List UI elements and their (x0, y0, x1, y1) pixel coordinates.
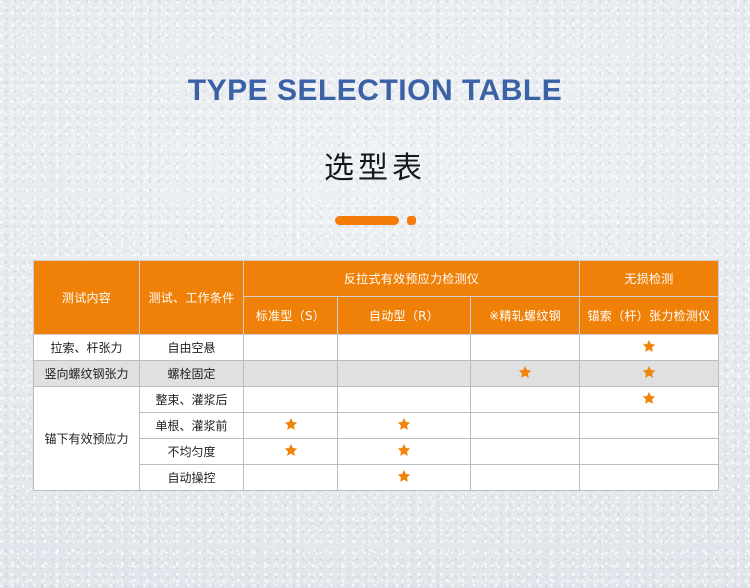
star-icon (397, 417, 411, 431)
cell-test-condition: 整束、灌浆后 (140, 387, 244, 413)
type-selection-table: 测试内容 测试、工作条件 反拉式有效预应力检测仪 无损检测 标准型（S） 自动型… (33, 260, 719, 491)
table-header: 测试内容 测试、工作条件 反拉式有效预应力检测仪 无损检测 标准型（S） 自动型… (34, 261, 719, 335)
cell-test-condition: 不均匀度 (140, 439, 244, 465)
star-icon (642, 391, 656, 405)
cell-supported (580, 361, 719, 387)
star-icon (397, 469, 411, 483)
cell-empty (471, 465, 580, 491)
th-sub-rebar: ※精轧螺纹钢 (471, 297, 580, 335)
cell-test-condition: 自由空悬 (140, 335, 244, 361)
star-icon (642, 339, 656, 353)
cell-empty (338, 335, 471, 361)
table-row: 竖向螺纹钢张力螺栓固定 (34, 361, 719, 387)
cell-empty (580, 413, 719, 439)
cell-empty (244, 335, 338, 361)
th-sub-standard: 标准型（S） (244, 297, 338, 335)
cell-test-condition: 自动操控 (140, 465, 244, 491)
star-icon (397, 443, 411, 457)
star-icon (518, 365, 532, 379)
cell-empty (471, 335, 580, 361)
star-icon (284, 443, 298, 457)
th-group-pullback-instrument: 反拉式有效预应力检测仪 (244, 261, 580, 297)
th-sub-automatic: 自动型（R） (338, 297, 471, 335)
table-body: 拉索、杆张力自由空悬竖向螺纹钢张力螺栓固定锚下有效预应力整束、灌浆后单根、灌浆前… (34, 335, 719, 491)
cell-empty (471, 413, 580, 439)
cell-empty (244, 465, 338, 491)
cell-supported (338, 439, 471, 465)
cell-test-content: 锚下有效预应力 (34, 387, 140, 491)
cell-empty (338, 361, 471, 387)
type-selection-table-wrapper: 测试内容 测试、工作条件 反拉式有效预应力检测仪 无损检测 标准型（S） 自动型… (33, 260, 718, 491)
cell-empty (244, 387, 338, 413)
table-row: 锚下有效预应力整束、灌浆后 (34, 387, 719, 413)
cell-empty (244, 361, 338, 387)
table-header-row-top: 测试内容 测试、工作条件 反拉式有效预应力检测仪 无损检测 (34, 261, 719, 297)
cell-empty (338, 387, 471, 413)
th-sub-anchor-tension: 锚索（杆）张力检测仪 (580, 297, 719, 335)
cell-supported (244, 413, 338, 439)
cell-empty (471, 439, 580, 465)
cell-supported (338, 465, 471, 491)
th-test-condition: 测试、工作条件 (140, 261, 244, 335)
cell-test-condition: 螺栓固定 (140, 361, 244, 387)
th-test-content: 测试内容 (34, 261, 140, 335)
divider-bar (335, 216, 399, 225)
divider-ornament (0, 216, 750, 225)
cell-test-content: 竖向螺纹钢张力 (34, 361, 140, 387)
star-icon (642, 365, 656, 379)
heading-block: TYPE SELECTION TABLE 选型表 (0, 72, 750, 187)
page-title-chinese: 选型表 (0, 110, 750, 187)
cell-empty (471, 387, 580, 413)
cell-supported (244, 439, 338, 465)
table-row: 拉索、杆张力自由空悬 (34, 335, 719, 361)
th-group-nondestructive: 无损检测 (580, 261, 719, 297)
cell-test-condition: 单根、灌浆前 (140, 413, 244, 439)
page-title-english: TYPE SELECTION TABLE (0, 72, 750, 110)
cell-empty (580, 439, 719, 465)
cell-supported (338, 413, 471, 439)
cell-supported (580, 387, 719, 413)
cell-test-content: 拉索、杆张力 (34, 335, 140, 361)
cell-empty (580, 465, 719, 491)
divider-dot (407, 216, 416, 225)
cell-supported (580, 335, 719, 361)
cell-supported (471, 361, 580, 387)
star-icon (284, 417, 298, 431)
